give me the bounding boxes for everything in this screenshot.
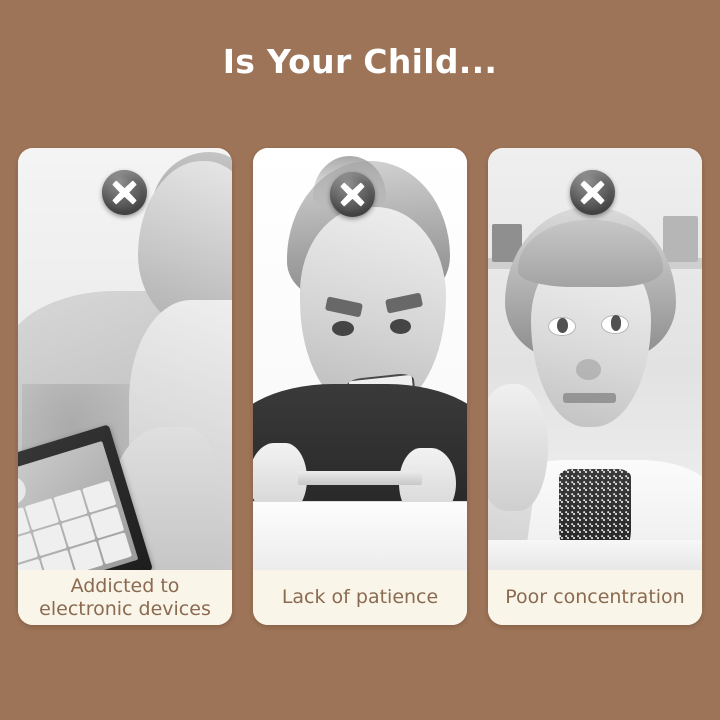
- photo3-mouth: [563, 393, 617, 403]
- x-mark-icon: [570, 170, 615, 215]
- card-caption-concentration: Poor concentration: [488, 570, 702, 625]
- photo1-screen-logo: [18, 474, 28, 508]
- photo1-app-grid: [18, 481, 132, 570]
- photo2-eye-left: [332, 321, 353, 336]
- caption-line-1: Lack of patience: [282, 586, 438, 609]
- card-photo-patience: [253, 148, 467, 570]
- card-photo-addicted: [18, 148, 232, 570]
- symptom-card-concentration[interactable]: Poor concentration: [488, 148, 702, 625]
- symptom-card-patience[interactable]: Lack of patience: [253, 148, 467, 625]
- card-photo-concentration: [488, 148, 702, 570]
- photo3-eye-right: [601, 315, 629, 334]
- caption-line-2: electronic devices: [39, 598, 211, 620]
- x-mark-icon: [330, 172, 375, 217]
- x-mark-icon: [102, 170, 147, 215]
- photo3-shelf-box-right: [663, 216, 697, 262]
- promo-banner: Is Your Child...: [0, 0, 720, 720]
- caption-line-1: Addicted to: [71, 575, 180, 597]
- photo3-desk: [488, 540, 702, 570]
- photo2-notebook: [253, 501, 467, 570]
- photo3-hand-on-chin: [488, 384, 548, 511]
- photo3-eye-left: [548, 317, 576, 336]
- photo2-pencil: [298, 471, 422, 485]
- card-caption-addicted: Addicted to electronic devices: [18, 570, 232, 625]
- card-caption-patience: Lack of patience: [253, 570, 467, 625]
- symptom-card-row: Addicted to electronic devices: [18, 148, 702, 625]
- caption-line-1: Poor concentration: [505, 586, 684, 609]
- symptom-card-addicted[interactable]: Addicted to electronic devices: [18, 148, 232, 625]
- page-title: Is Your Child...: [0, 42, 720, 82]
